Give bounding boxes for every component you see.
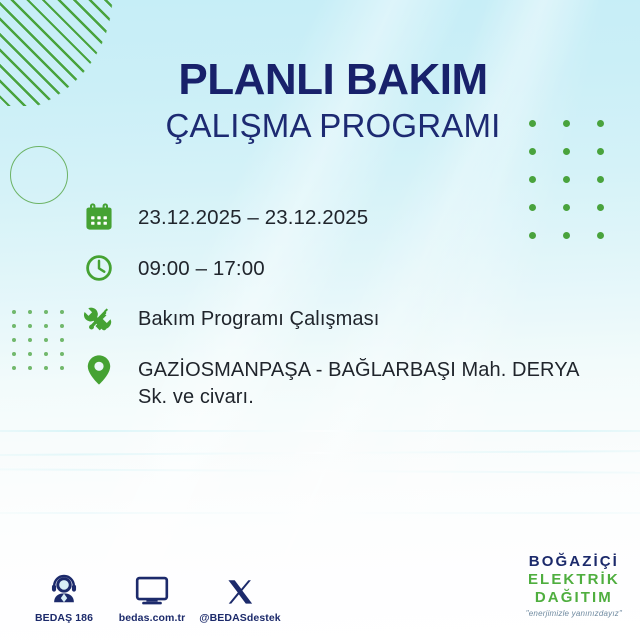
- detail-row-work-type: Bakım Programı Çalışması: [82, 302, 612, 336]
- detail-row-time: 09:00 – 17:00: [82, 251, 612, 285]
- brand-line-elektrik: ELEKTRİK: [526, 572, 622, 587]
- page-title: PLANLI BAKIM ÇALIŞMA PROGRAMI: [0, 58, 640, 144]
- detail-row-date: 23.12.2025 – 23.12.2025: [82, 200, 612, 234]
- brand-line-bogazici: BOĞAZİÇİ: [526, 554, 622, 569]
- x-twitter-icon: [196, 572, 284, 606]
- title-subtitle: ÇALIŞMA PROGRAMI: [26, 109, 640, 144]
- time-range-text: 09:00 – 17:00: [138, 251, 265, 282]
- footer-item-website[interactable]: bedas.com.tr: [108, 572, 196, 624]
- background-wave: [0, 450, 640, 457]
- footer-item-call-center[interactable]: BEDAŞ 186: [20, 572, 108, 624]
- headset-operator-icon: [20, 572, 108, 606]
- location-pin-icon: [82, 353, 116, 387]
- location-text: GAZİOSMANPAŞA - BAĞLARBAŞI Mah. DERYA Sk…: [138, 353, 608, 410]
- background-wave: [0, 512, 640, 514]
- brand-logo: BOĞAZİÇİ ELEKTRİK DAĞITIM "enerjimizle y…: [526, 554, 622, 618]
- brand-line-dagitim: DAĞITIM: [526, 590, 622, 605]
- background-wave: [0, 430, 640, 432]
- circle-outline-decoration: [10, 146, 68, 204]
- maintenance-details: 23.12.2025 – 23.12.2025 09:00 – 17:00: [82, 200, 612, 410]
- title-main: PLANLI BAKIM: [26, 58, 640, 103]
- monitor-icon: [108, 572, 196, 606]
- background-wave: [0, 468, 640, 474]
- footer-contacts: BEDAŞ 186 bedas.com.tr @BEDASdestek: [20, 572, 284, 624]
- tools-icon: [82, 302, 116, 336]
- clock-icon: [82, 251, 116, 285]
- planned-maintenance-poster: PLANLI BAKIM ÇALIŞMA PROGRAMI: [0, 0, 640, 640]
- footer-label-call-center: BEDAŞ 186: [20, 612, 108, 624]
- footer-label-x-handle: @BEDASdestek: [196, 612, 284, 624]
- dot-grid-left-decoration: [12, 310, 64, 370]
- date-range-text: 23.12.2025 – 23.12.2025: [138, 200, 368, 231]
- work-type-text: Bakım Programı Çalışması: [138, 302, 379, 333]
- brand-tagline: "enerjimizle yanınızdayız": [526, 610, 622, 618]
- calendar-icon: [82, 200, 116, 234]
- footer-label-website: bedas.com.tr: [108, 612, 196, 624]
- footer-item-x-handle[interactable]: @BEDASdestek: [196, 572, 284, 624]
- detail-row-location: GAZİOSMANPAŞA - BAĞLARBAŞI Mah. DERYA Sk…: [82, 353, 612, 410]
